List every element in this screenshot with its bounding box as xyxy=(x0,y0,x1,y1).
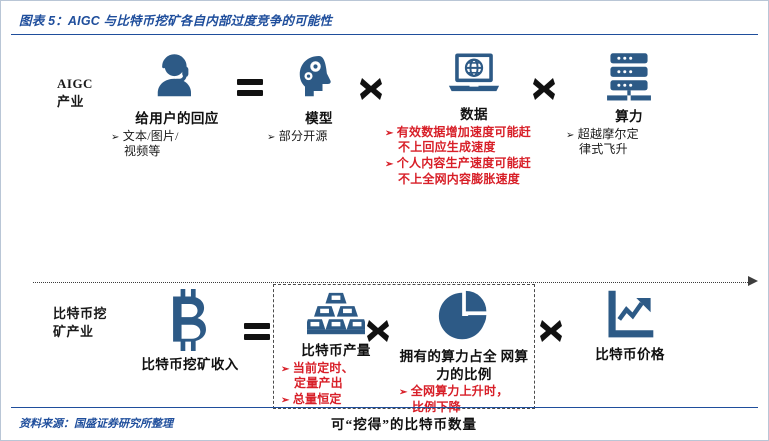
multiply-icon xyxy=(537,317,565,345)
head-gears-icon xyxy=(291,49,347,105)
server-stack-icon xyxy=(602,49,656,103)
row-label-aigc: AIGC 产业 xyxy=(57,75,93,110)
laptop-globe-icon xyxy=(445,49,503,101)
operator-equals xyxy=(237,79,263,99)
line-chart-up-icon xyxy=(603,289,657,341)
bullet-item: ➢ 超越摩尔定 律式飞升 xyxy=(566,127,692,159)
bullet-item: ➢ 全网算力上升时， 比例下降 xyxy=(399,384,529,416)
bullet-marker-icon: ➢ xyxy=(267,132,276,143)
bullet-marker-icon: ➢ xyxy=(111,132,120,143)
multiply-icon xyxy=(357,75,385,103)
pie-chart-icon xyxy=(436,289,492,343)
bullet-item: ➢ 有效数据增加速度可能赶 不上回应生成速度 xyxy=(385,125,563,157)
node-aigc-data: 数据 ➢ 有效数据增加速度可能赶 不上回应生成速度 ➢ 个人内容生产速度可能赶 … xyxy=(385,49,563,188)
node-bullets: ➢ 有效数据增加速度可能赶 不上回应生成速度 ➢ 个人内容生产速度可能赶 不上全… xyxy=(385,125,563,188)
bullet-text: 有效数据增加速度可能赶 不上回应生成速度 xyxy=(397,125,531,155)
bullet-item: ➢ 总量恒定 xyxy=(281,392,391,408)
node-bullets: ➢ 超越摩尔定 律式飞升 xyxy=(566,127,692,159)
node-caption: 给用户的回应 xyxy=(111,110,243,128)
operator-multiply xyxy=(530,75,558,103)
footer-divider xyxy=(11,407,758,408)
node-bitcoin-output: 比特币产量 ➢ 当前定时、 定量产出 ➢ 总量恒定 xyxy=(281,291,391,408)
bullet-text: 部分开源 xyxy=(279,129,328,143)
bullet-text: 总量恒定 xyxy=(293,392,342,406)
bullet-text: 全网算力上升时， 比例下降 xyxy=(411,384,509,414)
bullet-item: ➢ 部分开源 xyxy=(267,129,371,145)
operator-multiply xyxy=(364,317,392,345)
bullet-item: ➢ 文本/图片/ 视频等 xyxy=(111,129,243,161)
node-caption: 拥有的算力占全 网算力的比例 xyxy=(399,348,529,383)
bullet-marker-icon: ➢ xyxy=(566,130,575,141)
bullet-text: 当前定时、 定量产出 xyxy=(293,361,354,391)
divider-arrow-icon xyxy=(748,276,758,286)
bullet-marker-icon: ➢ xyxy=(385,159,394,170)
node-mining-revenue: 比特币挖矿收入 xyxy=(127,289,253,374)
bitcoin-b-icon xyxy=(165,289,215,351)
node-aigc-model: 模型 ➢ 部分开源 xyxy=(267,49,371,144)
figure-header: 图表 5：AIGC 与比特币挖矿各自内部过度竞争的可能性 xyxy=(1,1,768,33)
node-bullets: ➢ 全网算力上升时， 比例下降 xyxy=(399,384,529,416)
node-caption: 算力 xyxy=(566,108,692,126)
node-bitcoin-price: 比特币价格 xyxy=(567,289,693,364)
row-label-bitcoin-mining: 比特币挖 矿产业 xyxy=(53,305,107,340)
headset-person-icon xyxy=(149,49,205,105)
node-hashrate-share: 拥有的算力占全 网算力的比例 ➢ 全网算力上升时， 比例下降 xyxy=(399,289,529,416)
diagram-canvas: AIGC 产业 给用户的回应 ➢ 文本/图片/ 视频等 模型 xyxy=(1,35,769,407)
node-bullets: ➢ 文本/图片/ 视频等 xyxy=(111,129,243,161)
multiply-icon xyxy=(530,75,558,103)
bullet-item: ➢ 当前定时、 定量产出 xyxy=(281,361,391,393)
bullet-marker-icon: ➢ xyxy=(385,128,394,139)
operator-multiply xyxy=(537,317,565,345)
bullet-text: 文本/图片/ 视频等 xyxy=(123,129,179,159)
node-bullets: ➢ 部分开源 xyxy=(267,129,371,145)
page-title: 图表 5：AIGC 与比特币挖矿各自内部过度竞争的可能性 xyxy=(19,10,332,29)
bullet-text: 个人内容生产速度可能赶 不上全网内容膨胀速度 xyxy=(397,156,531,186)
operator-equals xyxy=(244,323,270,343)
operator-multiply xyxy=(357,75,385,103)
node-aigc-response: 给用户的回应 ➢ 文本/图片/ 视频等 xyxy=(111,49,243,160)
bullet-marker-icon: ➢ xyxy=(281,395,290,406)
node-caption: 数据 xyxy=(385,106,563,124)
chart-figure-page: 图表 5：AIGC 与比特币挖矿各自内部过度竞争的可能性 AIGC 产业 给用户… xyxy=(0,0,769,441)
bullet-item: ➢ 个人内容生产速度可能赶 不上全网内容膨胀速度 xyxy=(385,156,563,188)
multiply-icon xyxy=(364,317,392,345)
group-caption-mined-bitcoin: 可“挖得”的比特币数量 xyxy=(273,413,535,433)
source-note: 资料来源：国盛证券研究所整理 xyxy=(19,415,173,431)
bullet-marker-icon: ➢ xyxy=(281,364,290,375)
bullet-text: 超越摩尔定 律式飞升 xyxy=(578,127,639,157)
node-bullets: ➢ 当前定时、 定量产出 ➢ 总量恒定 xyxy=(281,361,391,408)
node-caption: 比特币挖矿收入 xyxy=(127,356,253,374)
node-caption: 比特币价格 xyxy=(567,346,693,364)
node-aigc-compute: 算力 ➢ 超越摩尔定 律式飞升 xyxy=(566,49,692,158)
bullet-marker-icon: ➢ xyxy=(399,387,408,398)
node-caption: 模型 xyxy=(267,110,371,128)
gold-bars-icon xyxy=(307,291,365,337)
